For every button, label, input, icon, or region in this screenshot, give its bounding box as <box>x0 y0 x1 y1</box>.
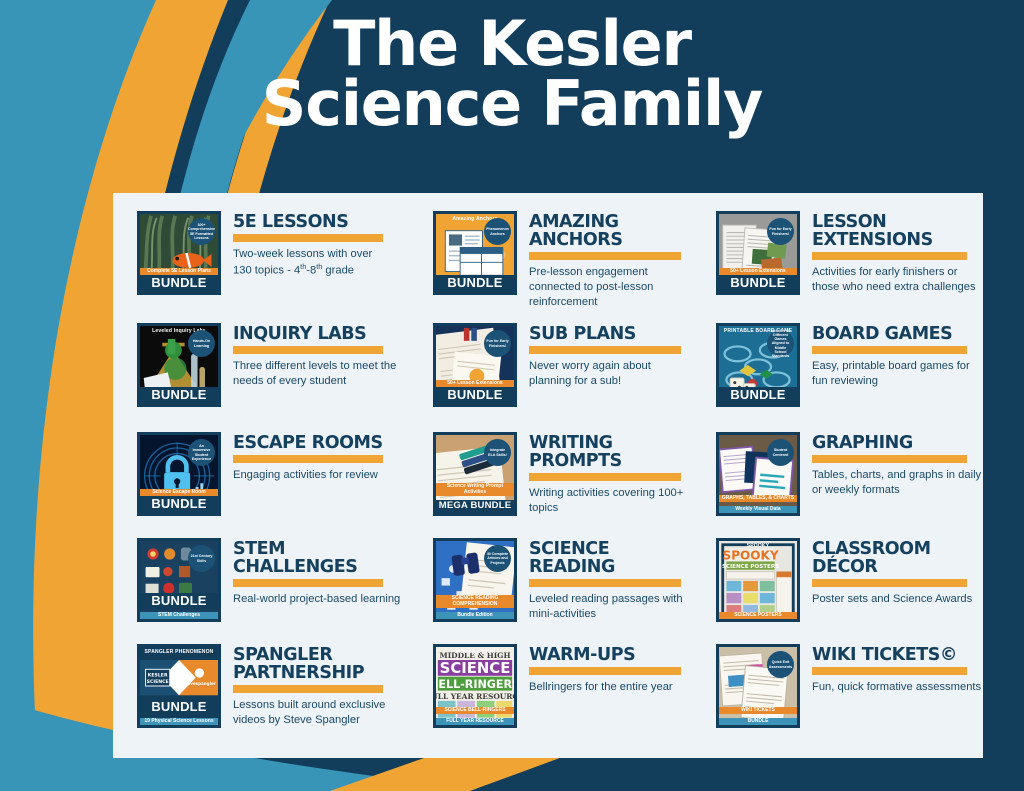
product-description: Leveled reading passages with mini-activ… <box>529 592 692 622</box>
product-thumbnail[interactable]: An Immersive Student ExperienceBUNDLESci… <box>137 432 221 516</box>
product-description: Writing activities covering 100+ topics <box>529 486 692 516</box>
product-title: ESCAPE ROOMS <box>233 434 409 452</box>
product-description: Real-world project-based learning <box>233 592 409 607</box>
thumbnail-badge: Student Centered <box>767 439 794 466</box>
svg-text:stevespangler: stevespangler <box>183 681 216 686</box>
thumbnail-mid-label: GRAPHS, TABLES, & CHARTS <box>719 495 797 503</box>
product-description: Lessons built around exclusive videos by… <box>233 698 409 728</box>
product-thumbnail[interactable]: Leveled Inquiry LabsHands-On LearningBUN… <box>137 323 221 407</box>
thumbnail-mid-label: SCIENCE BELL-RINGERS <box>436 707 514 715</box>
product-description: Poster sets and Science Awards <box>812 592 983 607</box>
product-title: SUB PLANS <box>529 325 692 343</box>
product-thumbnail[interactable]: KESLER SCIENCE stevespangler SPANGLER PH… <box>137 644 221 728</box>
title-underline-rule <box>233 579 383 587</box>
product-thumbnail-wrap: SPOOKY SCIENCE POSTERS SPOOKYSCIE <box>692 538 800 622</box>
thumbnail-badge: Includes 10 Different Games Aligned to M… <box>767 330 794 357</box>
title-underline-rule <box>812 455 967 463</box>
product-title: STEM CHALLENGES <box>233 540 409 576</box>
svg-text:SCIENCE: SCIENCE <box>147 679 169 685</box>
poster-canvas: The Kesler Science Family 100+ Comprehen… <box>0 0 1024 791</box>
svg-text:KESLER: KESLER <box>148 673 168 679</box>
thumbnail-badge: Integrate ELA Skills! <box>484 439 511 466</box>
thumbnail-badge: 100+ Comprehensive 5E Formatted Lessons <box>188 218 215 245</box>
product-meta: STEM CHALLENGESReal-world project-based … <box>221 538 409 607</box>
product-thumbnail[interactable]: SPOOKY SCIENCE POSTERS SPOOKYSCIE <box>716 538 800 622</box>
product-thumbnail-wrap: 100+ Comprehensive 5E Formatted LessonsB… <box>113 211 221 295</box>
thumbnail-bundle-label: BUNDLE <box>436 275 514 292</box>
product-card[interactable]: Fun for Early Finishers!BUNDLE50+ Lesson… <box>409 323 692 432</box>
thumbnail-top-label: SPANGLER PHENOMENON <box>140 647 218 658</box>
product-card[interactable]: MIDDLE & HIGH SCIENCE BELL-RINGERS FULL … <box>409 644 692 750</box>
product-title: BOARD GAMES <box>812 325 983 343</box>
products-panel: 100+ Comprehensive 5E Formatted LessonsB… <box>113 193 983 758</box>
product-thumbnail[interactable]: Fun for Early Finishers!BUNDLE50+ Lesson… <box>716 211 800 295</box>
product-meta: CLASSROOM DÉCORPoster sets and Science A… <box>800 538 983 607</box>
thumbnail-bundle-label: BUNDLE <box>140 593 218 610</box>
product-description: Three different levels to meet the needs… <box>233 359 409 389</box>
product-description: Pre-lesson engagement connected to post-… <box>529 265 692 310</box>
svg-text:SCIENCE: SCIENCE <box>440 659 511 677</box>
product-thumbnail-wrap: An Immersive Student ExperienceBUNDLESci… <box>113 432 221 516</box>
product-thumbnail[interactable]: Integrate ELA Skills!MEGA BUNDLEScience … <box>433 432 517 516</box>
product-title: WARM-UPS <box>529 646 692 664</box>
title-underline-rule <box>529 579 681 587</box>
product-thumbnail[interactable]: Amazing AnchorsPhenomenon AnchorsBUNDLE <box>433 211 517 295</box>
thumbnail-sub-label: FULL YEAR RESOURCE <box>436 718 514 726</box>
product-thumbnail-wrap: Amazing AnchorsPhenomenon AnchorsBUNDLE <box>409 211 517 295</box>
product-card[interactable]: Integrate ELA Skills!MEGA BUNDLEScience … <box>409 432 692 538</box>
thumbnail-badge: Fun for Early Finishers! <box>767 218 794 245</box>
bottom-navy-wedge <box>470 758 1024 791</box>
product-meta: GRAPHINGTables, charts, and graphs in da… <box>800 432 983 498</box>
thumbnail-mid-label: WIKI TICKETS <box>719 707 797 715</box>
product-thumbnail[interactable]: MIDDLE & HIGH SCIENCE BELL-RINGERS FULL … <box>433 644 517 728</box>
svg-text:BELL-RINGERS: BELL-RINGERS <box>436 678 514 691</box>
product-thumbnail[interactable]: Quick Exit AssessmentsWIKI TICKETSBUNDLE <box>716 644 800 728</box>
product-thumbnail-wrap: PRINTABLE BOARD GAMEIncludes 10 Differen… <box>692 323 800 407</box>
thumbnail-top-label: MIDDLE & HIGH <box>436 647 514 658</box>
product-title: CLASSROOM DÉCOR <box>812 540 983 576</box>
product-card[interactable]: Leveled Inquiry LabsHands-On LearningBUN… <box>113 323 409 432</box>
product-card[interactable]: SPOOKY SCIENCE POSTERS SPOOKYSCIE <box>692 538 983 644</box>
product-title: 5E LESSONS <box>233 213 409 231</box>
thumbnail-ribbon-label: 50+ Lesson Extensions <box>719 268 797 276</box>
product-thumbnail[interactable]: Student CenteredGRAPHS, TABLES, & CHARTS… <box>716 432 800 516</box>
product-meta: SUB PLANSNever worry again about plannin… <box>517 323 692 389</box>
product-title: SCIENCE READING <box>529 540 692 576</box>
product-thumbnail[interactable]: 40 Complete Articles and ProjectsSCIENCE… <box>433 538 517 622</box>
product-thumbnail-wrap: Quick Exit AssessmentsWIKI TICKETSBUNDLE <box>692 644 800 728</box>
thumbnail-bundle-label: BUNDLE <box>140 699 218 716</box>
thumbnail-bundle-label: BUNDLE <box>719 275 797 292</box>
product-meta: SCIENCE READINGLeveled reading passages … <box>517 538 692 622</box>
thumbnail-ribbon-label: Complete 5E Lesson Plans <box>140 268 218 276</box>
product-card[interactable]: 40 Complete Articles and ProjectsSCIENCE… <box>409 538 692 644</box>
product-title: WRITING PROMPTS <box>529 434 692 470</box>
product-description: Bellringers for the entire year <box>529 680 692 695</box>
thumbnail-top-label: SPOOKY <box>719 541 797 552</box>
title-underline-rule <box>812 346 967 354</box>
thumbnail-bundle-label: MEGA BUNDLE <box>436 500 514 513</box>
thumbnail-sub-label: STEM Challenges <box>140 612 218 620</box>
thumbnail-ribbon-label: Science Escape Room <box>140 489 218 497</box>
thumbnail-bundle-label: BUNDLE <box>140 387 218 404</box>
thumbnail-sub-label: 19 Physical Science Lessons <box>140 718 218 726</box>
thumbnail-bundle-label: BUNDLE <box>436 387 514 404</box>
product-thumbnail-wrap: Fun for Early Finishers!BUNDLE50+ Lesson… <box>692 211 800 295</box>
thumbnail-badge: Fun for Early Finishers! <box>484 330 511 357</box>
thumbnail-mid-label: SCIENCE POSTERS <box>719 612 797 620</box>
product-meta: LESSON EXTENSIONSActivities for early fi… <box>800 211 983 295</box>
product-thumbnail-wrap: MIDDLE & HIGH SCIENCE BELL-RINGERS FULL … <box>409 644 517 728</box>
product-description: Tables, charts, and graphs in daily or w… <box>812 468 983 498</box>
product-thumbnail[interactable]: Fun for Early Finishers!BUNDLE50+ Lesson… <box>433 323 517 407</box>
product-title: AMAZING ANCHORS <box>529 213 692 249</box>
product-thumbnail-wrap: Leveled Inquiry LabsHands-On LearningBUN… <box>113 323 221 407</box>
title-underline-rule <box>812 667 967 675</box>
title-underline-rule <box>529 252 681 260</box>
thumbnail-art-spooky-posters-icon: SPOOKY SCIENCE POSTERS <box>719 541 797 619</box>
product-title: SPANGLER PARTNERSHIP <box>233 646 409 682</box>
thumbnail-badge: 40 Complete Articles and Projects <box>484 545 511 572</box>
product-card[interactable]: Student CenteredGRAPHS, TABLES, & CHARTS… <box>692 432 983 538</box>
product-thumbnail-wrap: Student CenteredGRAPHS, TABLES, & CHARTS… <box>692 432 800 516</box>
thumbnail-mid-label: SCIENCE READING COMPREHENSION <box>436 595 514 608</box>
thumbnail-badge: An Immersive Student Experience <box>188 439 215 466</box>
product-description: Engaging activities for review <box>233 468 409 483</box>
product-meta: BOARD GAMESEasy, printable board games f… <box>800 323 983 389</box>
svg-text:SCIENCE POSTERS: SCIENCE POSTERS <box>722 564 779 570</box>
title-underline-rule <box>233 234 383 242</box>
title-underline-rule <box>529 667 681 675</box>
product-title: WIKI TICKETS© <box>812 646 983 664</box>
product-meta: ESCAPE ROOMSEngaging activities for revi… <box>221 432 409 483</box>
thumbnail-bundle-label: BUNDLE <box>719 387 797 404</box>
product-title: INQUIRY LABS <box>233 325 409 343</box>
thumbnail-badge: Hands-On Learning <box>188 330 215 357</box>
product-meta: AMAZING ANCHORSPre-lesson engagement con… <box>517 211 692 310</box>
thumbnail-bundle-label: BUNDLE <box>140 275 218 292</box>
title-underline-rule <box>812 252 967 260</box>
product-thumbnail-wrap: 40 Complete Articles and ProjectsSCIENCE… <box>409 538 517 622</box>
title-underline-rule <box>233 685 383 693</box>
thumbnail-sub-label: Bundle Edition <box>436 612 514 620</box>
product-meta: WRITING PROMPTSWriting activities coveri… <box>517 432 692 516</box>
product-card[interactable]: Fun for Early Finishers!BUNDLE50+ Lesson… <box>692 211 983 323</box>
product-card[interactable]: KESLER SCIENCE stevespangler SPANGLER PH… <box>113 644 409 750</box>
title-underline-rule <box>233 455 383 463</box>
product-thumbnail[interactable]: 100+ Comprehensive 5E Formatted LessonsB… <box>137 211 221 295</box>
svg-text:FULL YEAR RESOURCE: FULL YEAR RESOURCE <box>436 692 514 701</box>
title-underline-rule <box>233 346 383 354</box>
product-thumbnail-wrap: Fun for Early Finishers!BUNDLE50+ Lesson… <box>409 323 517 407</box>
product-thumbnail-wrap: 21st Century SkillsBUNDLESTEM Challenges <box>113 538 221 622</box>
product-meta: WIKI TICKETS©Fun, quick formative assess… <box>800 644 983 695</box>
product-card[interactable]: 100+ Comprehensive 5E Formatted LessonsB… <box>113 211 409 323</box>
thumbnail-sub-label: Weekly Visual Data <box>719 506 797 514</box>
title-underline-rule <box>812 579 967 587</box>
products-grid: 100+ Comprehensive 5E Formatted LessonsB… <box>113 193 983 758</box>
product-thumbnail-wrap: Integrate ELA Skills!MEGA BUNDLEScience … <box>409 432 517 516</box>
product-title: GRAPHING <box>812 434 983 452</box>
product-meta: WARM-UPSBellringers for the entire year <box>517 644 692 695</box>
product-thumbnail[interactable]: 21st Century SkillsBUNDLESTEM Challenges <box>137 538 221 622</box>
product-description: Two-week lessons with over130 topics - 4… <box>233 247 409 279</box>
thumbnail-sub-label: BUNDLE <box>719 718 797 726</box>
product-meta: 5E LESSONSTwo-week lessons with over130 … <box>221 211 409 279</box>
product-card[interactable]: Quick Exit AssessmentsWIKI TICKETSBUNDLE… <box>692 644 983 750</box>
product-meta: SPANGLER PARTNERSHIPLessons built around… <box>221 644 409 728</box>
product-card[interactable]: PRINTABLE BOARD GAMEIncludes 10 Differen… <box>692 323 983 432</box>
product-card[interactable]: An Immersive Student ExperienceBUNDLESci… <box>113 432 409 538</box>
title-line-2: Science Family <box>0 74 1024 134</box>
title-underline-rule <box>529 473 681 481</box>
title-underline-rule <box>529 346 681 354</box>
product-thumbnail[interactable]: PRINTABLE BOARD GAMEIncludes 10 Differen… <box>716 323 800 407</box>
product-description: Easy, printable board games for fun revi… <box>812 359 983 389</box>
product-description: Activities for early finishers or those … <box>812 265 983 295</box>
product-card[interactable]: 21st Century SkillsBUNDLESTEM Challenges… <box>113 538 409 644</box>
thumbnail-bundle-label: BUNDLE <box>140 496 218 513</box>
product-description: Fun, quick formative assessments <box>812 680 983 695</box>
thumbnail-ribbon-label: 50+ Lesson Extensions <box>436 380 514 388</box>
product-description: Never worry again about planning for a s… <box>529 359 692 389</box>
page-title: The Kesler Science Family <box>0 14 1024 133</box>
product-meta: INQUIRY LABSThree different levels to me… <box>221 323 409 389</box>
thumbnail-ribbon-label: Science Writing Prompt Activities <box>436 483 514 496</box>
thumbnail-badge: 21st Century Skills <box>188 545 215 572</box>
product-title: LESSON EXTENSIONS <box>812 213 983 249</box>
product-card[interactable]: Amazing AnchorsPhenomenon AnchorsBUNDLEA… <box>409 211 692 323</box>
product-thumbnail-wrap: KESLER SCIENCE stevespangler SPANGLER PH… <box>113 644 221 728</box>
thumbnail-badge: Quick Exit Assessments <box>767 651 794 678</box>
thumbnail-badge: Phenomenon Anchors <box>484 218 511 245</box>
